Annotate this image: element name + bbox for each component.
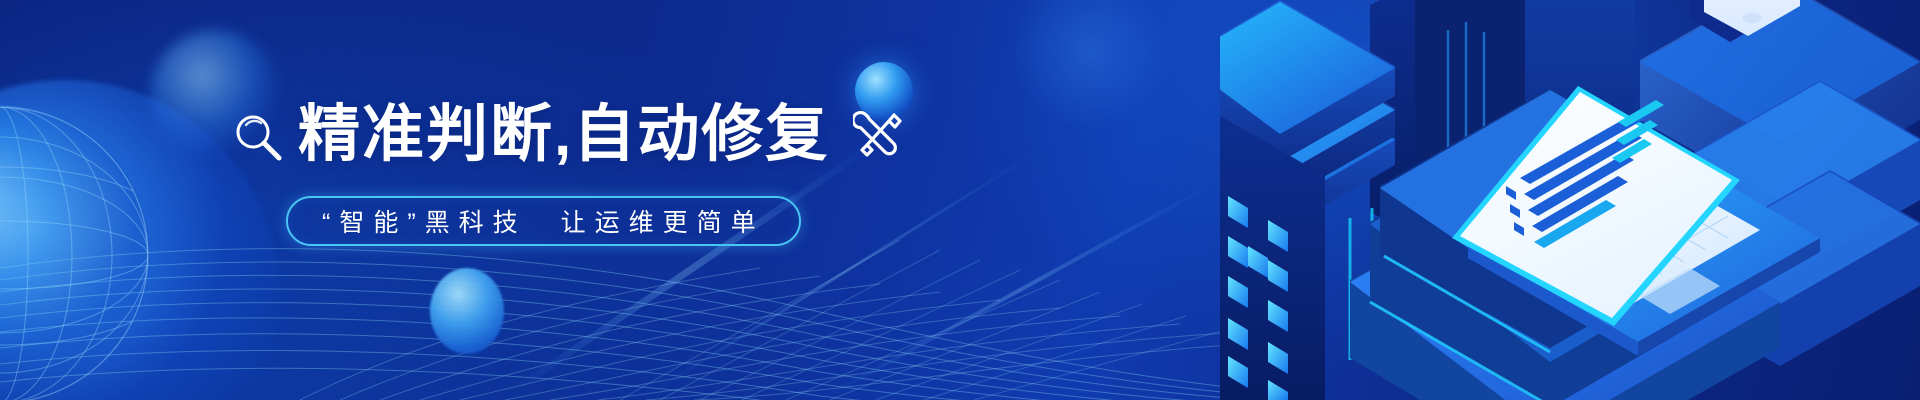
page-title: 精准判断,自动修复: [298, 104, 829, 166]
magnifier-icon: [232, 111, 284, 163]
isometric-city-illustration: [1220, 0, 1920, 400]
subtitle-pill: “智能”黑科技 让运维更简单: [286, 196, 801, 246]
promo-banner: 精准判断,自动修复 “智能”黑科技 让运维更简单: [0, 0, 1920, 400]
wrench-screwdriver-icon: [853, 109, 907, 163]
banner-content: 精准判断,自动修复 “智能”黑科技 让运维更简单: [232, 96, 1052, 296]
headline-row: 精准判断,自动修复: [232, 96, 1052, 174]
subtitle-text: “智能”黑科技 让运维更简单: [322, 203, 765, 239]
